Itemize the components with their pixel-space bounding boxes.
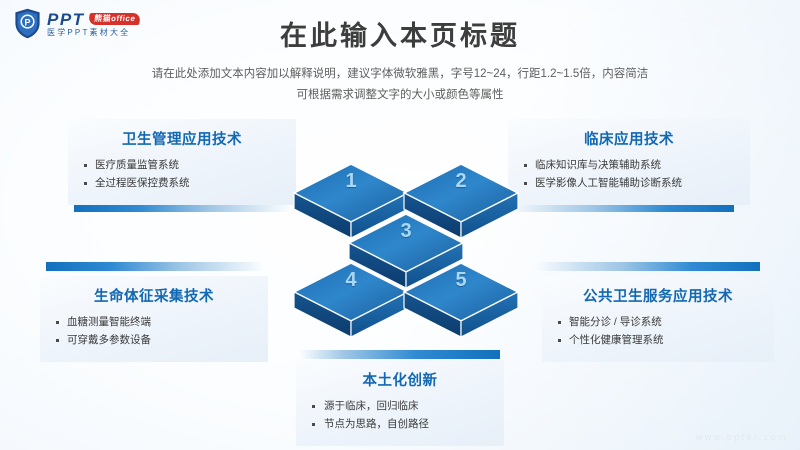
panel-title: 生命体征采集技术: [52, 285, 256, 306]
brand-logo: P PPT 熊猫office 医学PPT素材大全: [14, 8, 140, 39]
panel-bullet-list: 智能分诊 / 导诊系统 个性化健康管理系统: [554, 313, 762, 350]
list-item: 节点为思路，自创路径: [308, 415, 492, 433]
list-item: 医疗质量监管系统: [80, 156, 284, 174]
list-item: 智能分诊 / 导诊系统: [554, 313, 762, 331]
site-watermark: www.ppter.com: [696, 432, 788, 442]
subtitle-line-1: 请在此处添加文本内容加以解释说明，建议字体微软雅黑，字号12~24，行距1.2~…: [0, 64, 800, 85]
list-item: 医学影像人工智能辅助诊断系统: [520, 174, 738, 192]
diagram-block-4[interactable]: 4: [292, 261, 410, 345]
logo-badge: 熊猫office: [88, 13, 141, 25]
panel-title: 临床应用技术: [520, 128, 738, 149]
slide-canvas: P PPT 熊猫office 医学PPT素材大全 在此输入本页标题 请在此处添加…: [0, 0, 800, 450]
svg-text:P: P: [24, 18, 30, 28]
cube-icon: [292, 261, 410, 345]
panel-middle-left[interactable]: 生命体征采集技术 血糖测量智能终端 可穿戴多参数设备: [40, 276, 268, 362]
list-item: 源于临床，回归临床: [308, 397, 492, 415]
panel-bottom-center[interactable]: 本土化创新 源于临床，回归临床 节点为思路，自创路径: [296, 360, 504, 446]
panel-title: 卫生管理应用技术: [80, 128, 284, 149]
panel-title: 本土化创新: [308, 369, 492, 390]
page-subtitle: 请在此处添加文本内容加以解释说明，建议字体微软雅黑，字号12~24，行距1.2~…: [0, 64, 800, 107]
panel-bullet-list: 血糖测量智能终端 可穿戴多参数设备: [52, 313, 256, 350]
accent-bar-middle-right: [536, 262, 760, 271]
list-item: 血糖测量智能终端: [52, 313, 256, 331]
logo-brand-text: PPT: [47, 11, 85, 28]
panel-bullet-list: 医疗质量监管系统 全过程医保控费系统: [80, 156, 284, 193]
accent-bar-middle-left: [46, 262, 264, 271]
diagram-block-5[interactable]: 5: [402, 261, 520, 345]
list-item: 临床知识库与决策辅助系统: [520, 156, 738, 174]
isometric-block-diagram: 1 2 3 4: [290, 160, 522, 345]
panel-top-right[interactable]: 临床应用技术 临床知识库与决策辅助系统 医学影像人工智能辅助诊断系统: [508, 119, 750, 205]
list-item: 全过程医保控费系统: [80, 174, 284, 192]
panel-bullet-list: 临床知识库与决策辅助系统 医学影像人工智能辅助诊断系统: [520, 156, 738, 193]
panel-middle-right[interactable]: 公共卫生服务应用技术 智能分诊 / 导诊系统 个性化健康管理系统: [542, 276, 774, 362]
logo-tagline: 医学PPT素材大全: [47, 29, 140, 37]
accent-bar-bottom-center: [300, 350, 500, 359]
panel-bullet-list: 源于临床，回归临床 节点为思路，自创路径: [308, 397, 492, 434]
cube-icon: [402, 261, 520, 345]
panel-title: 公共卫生服务应用技术: [554, 285, 762, 306]
list-item: 个性化健康管理系统: [554, 331, 762, 349]
panel-top-left[interactable]: 卫生管理应用技术 医疗质量监管系统 全过程医保控费系统: [68, 119, 296, 205]
subtitle-line-2: 可根据需求调整文字的大小或颜色等属性: [0, 85, 800, 106]
shield-icon: P: [14, 8, 41, 39]
list-item: 可穿戴多参数设备: [52, 331, 256, 349]
